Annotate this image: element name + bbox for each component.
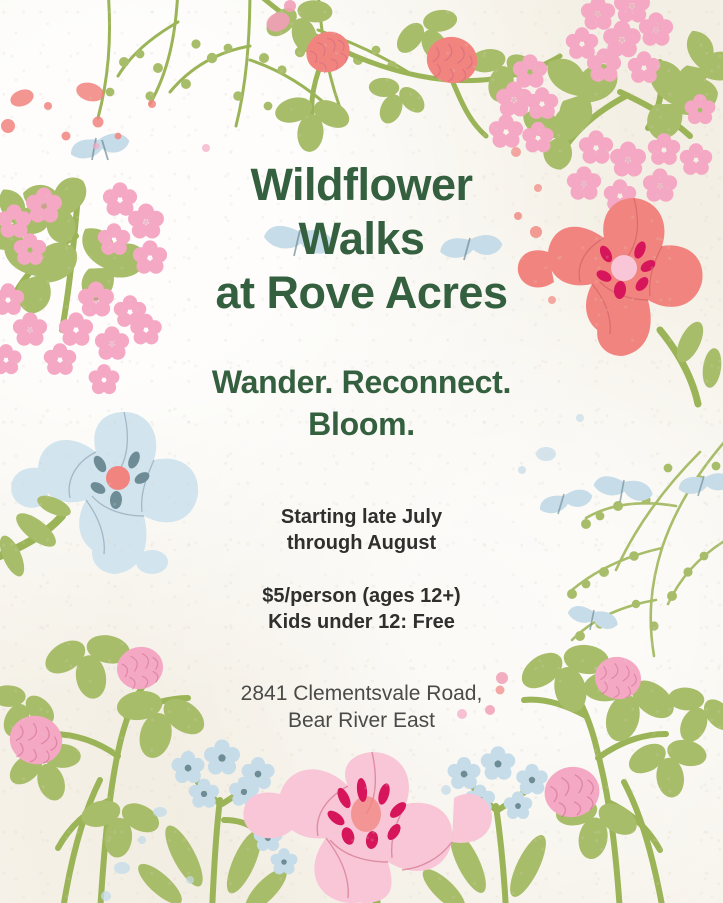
- event-dates: Starting late July through August: [281, 505, 442, 556]
- title-line-1: Wildflower: [176, 158, 548, 212]
- dates-line-2: through August: [281, 531, 442, 557]
- tagline-line-1: Wander. Reconnect.: [212, 362, 511, 404]
- poster-tagline: Wander. Reconnect. Bloom.: [172, 362, 551, 445]
- title-line-3: at Rove Acres: [176, 266, 548, 320]
- event-pricing: $5/person (ages 12+) Kids under 12: Free: [262, 584, 460, 635]
- tagline-line-2: Bloom.: [212, 404, 511, 446]
- poster-content: Wildflower Walks at Rove Acres Wander. R…: [0, 0, 723, 903]
- title-line-2: Walks: [176, 212, 548, 266]
- pricing-line-2: Kids under 12: Free: [262, 610, 460, 636]
- address-line-1: 2841 Clementsvale Road,: [241, 680, 483, 707]
- event-address: 2841 Clementsvale Road, Bear River East: [241, 680, 483, 735]
- address-line-2: Bear River East: [241, 707, 483, 734]
- pricing-line-1: $5/person (ages 12+): [262, 584, 460, 610]
- dates-line-1: Starting late July: [281, 505, 442, 531]
- poster-canvas: Wildflower Walks at Rove Acres Wander. R…: [0, 0, 723, 903]
- poster-title: Wildflower Walks at Rove Acres: [176, 158, 548, 320]
